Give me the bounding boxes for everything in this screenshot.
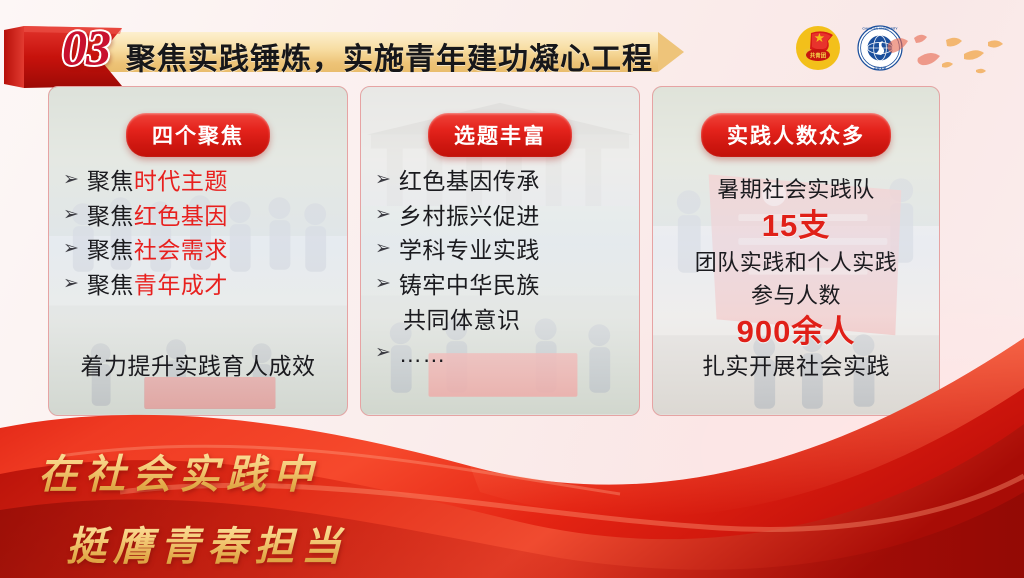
section-number: 03 <box>62 22 110 72</box>
bullet-arrow-icon: ➢ <box>63 165 79 194</box>
bullet-arrow-icon: ➢ <box>375 165 391 194</box>
page-title: 聚焦实践锤炼，实施青年建功凝心工程 <box>126 34 653 78</box>
bullet-arrow-icon: ➢ <box>63 269 79 298</box>
card-pill-heading: 实践人数众多 <box>701 113 891 157</box>
card-pill-heading: 选题丰富 <box>428 113 572 157</box>
stat-value: 15支 <box>653 206 939 246</box>
card-four-focuses: 四个聚焦 ➢ 聚焦时代主题 ➢ 聚焦红色基因 ➢ 聚焦社会需求 <box>48 86 348 416</box>
bullet-arrow-icon: ➢ <box>375 234 391 263</box>
slide-root: 03 聚焦实践锤炼，实施青年建功凝心工程 共青团 <box>0 0 1024 578</box>
list-item: ➢ 红色基因传承 <box>375 165 625 198</box>
bullet-text: 聚焦青年成才 <box>87 269 228 302</box>
content-card-row: 四个聚焦 ➢ 聚焦时代主题 ➢ 聚焦红色基因 ➢ 聚焦社会需求 <box>0 86 1024 416</box>
list-item: ➢ 乡村振兴促进 <box>375 200 625 233</box>
card-rich-topics: 选题丰富 ➢ 红色基因传承 ➢ 乡村振兴促进 ➢ 学科专业实践 <box>360 86 640 416</box>
list-item: ➢ …… <box>375 338 625 371</box>
list-item: ➢ 铸牢中华民族 <box>375 269 625 302</box>
card-pill-heading: 四个聚焦 <box>126 113 270 157</box>
card-body: 实践人数众多 暑期社会实践队 15支 团队实践和个人实践 参与人数 900余人 … <box>653 87 939 415</box>
card-footer-text: 扎实开展社会实践 <box>653 347 939 381</box>
bullet-list: ➢ 聚焦时代主题 ➢ 聚焦红色基因 ➢ 聚焦社会需求 ➢ 聚焦青年成才 <box>49 165 347 304</box>
stat-label: 团队实践和个人实践 <box>653 246 939 279</box>
slide-header: 03 聚焦实践锤炼，实施青年建功凝心工程 共青团 <box>0 10 1024 82</box>
calligraphy-line-1: 在社会实践中 <box>38 442 348 500</box>
bullet-text: 学科专业实践 <box>399 234 540 267</box>
bullet-arrow-icon: ➢ <box>63 200 79 229</box>
bullet-continuation-text: 共同体意识 <box>375 304 625 337</box>
card-many-participants: 实践人数众多 暑期社会实践队 15支 团队实践和个人实践 参与人数 900余人 … <box>652 86 940 416</box>
bullet-text: …… <box>399 338 446 371</box>
card-body: 四个聚焦 ➢ 聚焦时代主题 ➢ 聚焦红色基因 ➢ 聚焦社会需求 <box>49 87 347 415</box>
card-footer-text: 着力提升实践育人成效 <box>49 347 347 381</box>
bullet-text: 乡村振兴促进 <box>399 200 540 233</box>
list-item: ➢ 聚焦红色基因 <box>63 200 333 233</box>
list-item: ➢ 聚焦青年成才 <box>63 269 333 302</box>
svg-text:共青团: 共青团 <box>810 51 827 59</box>
list-item: ➢ 聚焦时代主题 <box>63 165 333 198</box>
calligraphy-slogan: 在社会实践中 挺膺青春担当 <box>38 442 348 572</box>
svg-text:长安大学: 长安大学 <box>874 65 886 70</box>
bullet-arrow-icon: ➢ <box>375 269 391 298</box>
bullet-arrow-icon: ➢ <box>375 200 391 229</box>
bullet-arrow-icon: ➢ <box>375 338 391 367</box>
svg-text:CHANGAN UNIVERSITY: CHANGAN UNIVERSITY <box>862 26 898 30</box>
bullet-text: 铸牢中华民族 <box>399 269 540 302</box>
stat-label: 暑期社会实践队 <box>653 173 939 206</box>
bullet-arrow-icon: ➢ <box>63 234 79 263</box>
list-item: ➢ 聚焦社会需求 <box>63 234 333 267</box>
card-body: 选题丰富 ➢ 红色基因传承 ➢ 乡村振兴促进 ➢ 学科专业实践 <box>361 87 639 415</box>
stat-label: 参与人数 <box>653 279 939 312</box>
calligraphy-line-2: 挺膺青春担当 <box>66 514 348 572</box>
university-seal-icon: CHANGAN UNIVERSITY 长安大学 <box>856 24 904 72</box>
logo-group: 共青团 CHANGAN UNIVERSITY 长安大学 <box>794 24 904 72</box>
bullet-text: 红色基因传承 <box>399 165 540 198</box>
bullet-list: ➢ 红色基因传承 ➢ 乡村振兴促进 ➢ 学科专业实践 ➢ 铸牢中华民族 <box>361 165 639 373</box>
bullet-text: 聚焦社会需求 <box>87 234 228 267</box>
communist-youth-league-emblem-icon: 共青团 <box>794 24 842 72</box>
bullet-text: 聚焦红色基因 <box>87 200 228 233</box>
bullet-text: 聚焦时代主题 <box>87 165 228 198</box>
statistics-block: 暑期社会实践队 15支 团队实践和个人实践 参与人数 900余人 <box>653 173 939 353</box>
list-item: ➢ 学科专业实践 <box>375 234 625 267</box>
